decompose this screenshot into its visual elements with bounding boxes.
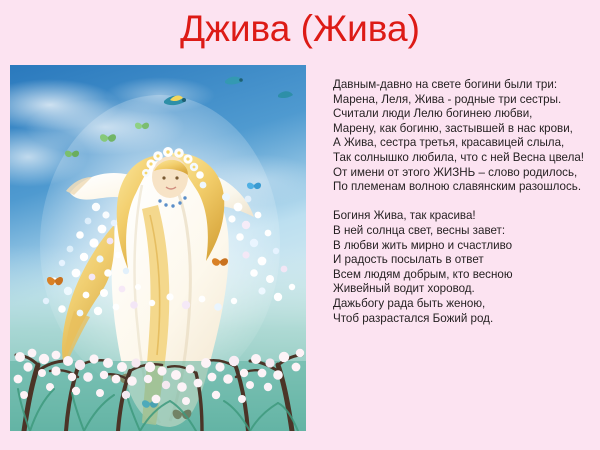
- poem-line: В любви жить мирно и счастливо: [333, 239, 595, 254]
- poem-line: В ней солнца свет, весны завет:: [333, 224, 595, 239]
- poem-stanza-2: Богиня Жива, так красива! В ней солнца с…: [333, 209, 595, 326]
- eye-left: [162, 176, 165, 179]
- poem-line: Так солнышко любила, что с ней Весна цве…: [333, 151, 595, 166]
- slide-canvas: Джива (Жива): [0, 0, 600, 450]
- poem-line: Считали люди Лелю богинею любви,: [333, 107, 595, 122]
- poem-line: Живейный водит хоровод.: [333, 282, 595, 297]
- illustration-svg: [10, 65, 306, 431]
- poem-stanza-1: Давным-давно на свете богини были три: М…: [333, 78, 595, 195]
- poem-line: От имени от этого ЖИЗНЬ – слово родилось…: [333, 166, 595, 181]
- poem-line: Богиня Жива, так красива!: [333, 209, 595, 224]
- goddess-zhiva-illustration: [10, 65, 306, 431]
- page-title: Джива (Жива): [0, 7, 600, 51]
- poem-line: Марену, как богиню, застывшей в нас кров…: [333, 122, 595, 137]
- eye-right: [175, 176, 178, 179]
- poem-line: По племенам волною славянским разошлось.: [333, 180, 595, 195]
- poem-line: И радость посылать в ответ: [333, 253, 595, 268]
- poem-line: Давным-давно на свете богини были три:: [333, 78, 595, 93]
- poem-line: А Жива, сестра третья, красавицей слыла,: [333, 136, 595, 151]
- poem-text: Давным-давно на свете богини были три: М…: [333, 78, 595, 326]
- poem-line: Дажьбогу рада быть женою,: [333, 297, 595, 312]
- poem-line: Марена, Леля, Жива - родные три сестры.: [333, 93, 595, 108]
- poem-line: Чтоб разрастался Божий род.: [333, 312, 595, 327]
- poem-line: Всем людям добрым, кто весною: [333, 268, 595, 283]
